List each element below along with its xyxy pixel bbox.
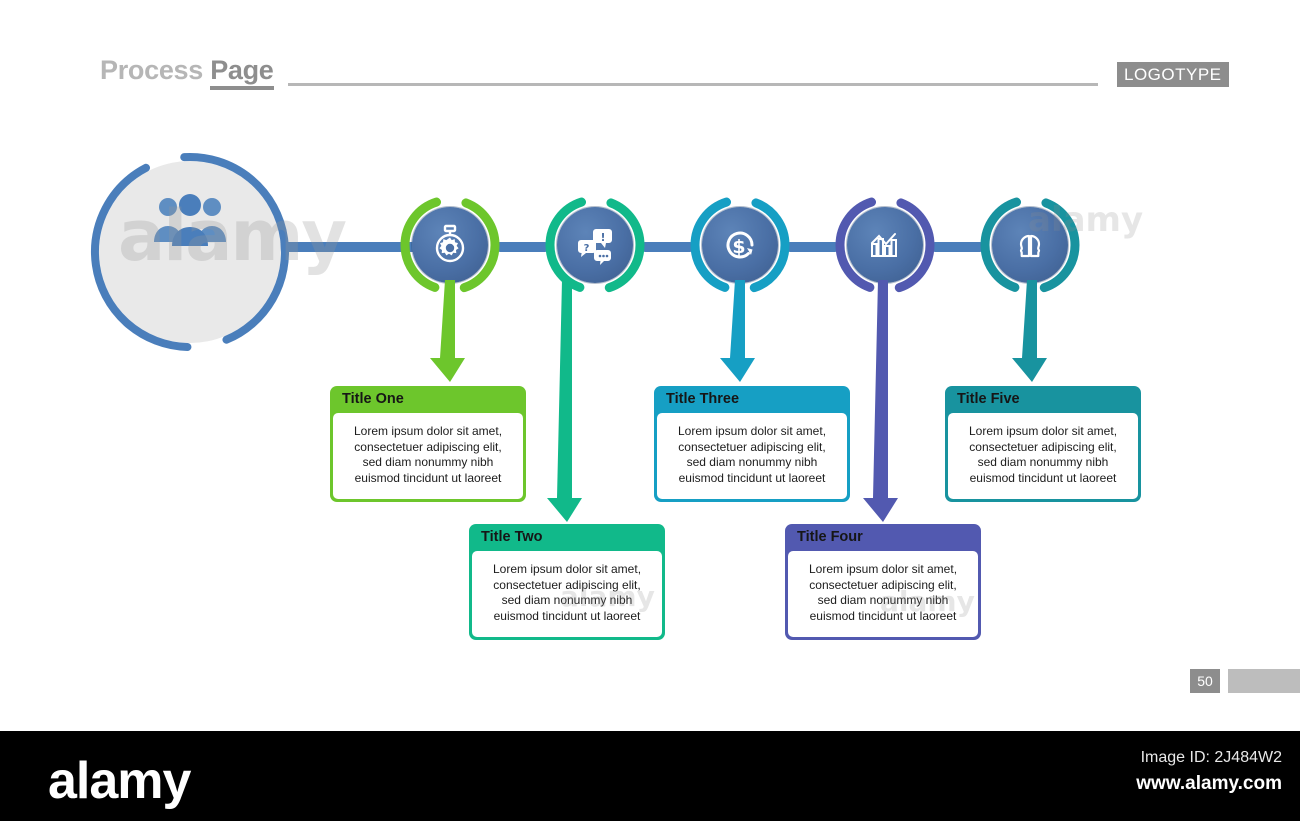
logotype-badge: LOGOTYPE <box>1117 62 1229 87</box>
card-four-title: Title Four <box>785 524 981 551</box>
main-title-node[interactable] <box>90 152 290 352</box>
page-number-badge: 50 <box>1190 669 1220 693</box>
card-two-title: Title Two <box>469 524 665 551</box>
svg-text:$: $ <box>732 236 745 258</box>
main-node-ring <box>90 152 290 352</box>
dollar-refresh-icon: $ <box>718 223 762 267</box>
page-title: Process Page <box>100 55 274 86</box>
slide-header: Process Page LOGOTYPE <box>100 55 1200 95</box>
card-one-title: Title One <box>330 386 526 413</box>
page-number-bar <box>1228 669 1300 693</box>
header-rule <box>288 83 1098 86</box>
card-two-body: Lorem ipsum dolor sit amet, consectetuer… <box>472 551 662 637</box>
footer-bar: alamy Image ID: 2J484W2 www.alamy.com <box>0 731 1300 821</box>
stopwatch-gear-icon <box>428 223 472 267</box>
arrow-step1-to-card1 <box>425 280 475 386</box>
page-title-word-1: Process <box>100 55 210 85</box>
connector-main-to-step1 <box>275 242 420 252</box>
card-three-body: Lorem ipsum dolor sit amet, consectetuer… <box>657 413 847 499</box>
footer-logo: alamy <box>48 751 190 811</box>
speech-bubbles-icon: ! ? <box>573 223 617 267</box>
svg-text:!: ! <box>600 231 605 244</box>
footer-image-id: Image ID: 2J484W2 <box>1141 749 1282 767</box>
connector-step1-to-step2 <box>495 242 550 252</box>
card-three-title: Title Three <box>654 386 850 413</box>
arrow-step5-to-card5 <box>1007 280 1057 386</box>
svg-text:?: ? <box>584 243 590 254</box>
card-two[interactable]: Title Two Lorem ipsum dolor sit amet, co… <box>469 524 665 640</box>
page-title-word-2: Page <box>210 55 273 90</box>
card-five[interactable]: Title Five Lorem ipsum dolor sit amet, c… <box>945 386 1141 502</box>
connector-step4-to-step5 <box>930 242 985 252</box>
card-one-body: Lorem ipsum dolor sit amet, consectetuer… <box>333 413 523 499</box>
group-of-people-icon <box>152 194 228 246</box>
card-five-body: Lorem ipsum dolor sit amet, consectetuer… <box>948 413 1138 499</box>
slide-canvas: Process Page LOGOTYPE <box>0 0 1300 821</box>
bar-chart-icon <box>863 223 907 267</box>
card-one[interactable]: Title One Lorem ipsum dolor sit amet, co… <box>330 386 526 502</box>
connector-step3-to-step4 <box>785 242 840 252</box>
card-four[interactable]: Title Four Lorem ipsum dolor sit amet, c… <box>785 524 981 640</box>
card-three[interactable]: Title Three Lorem ipsum dolor sit amet, … <box>654 386 850 502</box>
arrow-step2-to-card2 <box>542 280 592 526</box>
connector-step2-to-step3 <box>640 242 695 252</box>
footer-url: www.alamy.com <box>1136 773 1282 795</box>
card-four-body: Lorem ipsum dolor sit amet, consectetuer… <box>788 551 978 637</box>
two-heads-icon <box>1008 223 1052 267</box>
arrow-step3-to-card3 <box>715 280 765 386</box>
arrow-step4-to-card4 <box>858 280 908 526</box>
card-five-title: Title Five <box>945 386 1141 413</box>
